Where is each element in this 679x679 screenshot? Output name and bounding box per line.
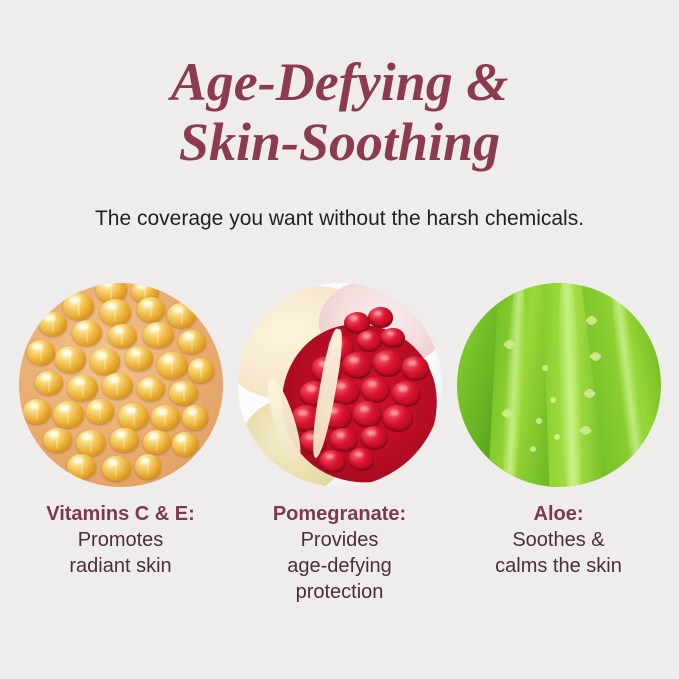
ingredient-body: Provides age-defying protection	[232, 527, 447, 605]
product-benefits-graphic: Age-Defying & Skin-Soothing The coverage…	[0, 0, 679, 679]
pomegranate-photo	[238, 283, 442, 487]
ingredient-title: Aloe:	[451, 501, 666, 527]
ingredient-title: Pomegranate:	[232, 501, 447, 527]
ingredient-caption-vitamins: Vitamins C & E: Promotes radiant skin	[13, 501, 228, 579]
ingredient-body-line-3: protection	[232, 579, 447, 605]
ingredient-body: Promotes radiant skin	[13, 527, 228, 579]
ingredient-body-line-2: calms the skin	[451, 553, 666, 579]
vitamin-capsules-photo	[19, 283, 223, 487]
ingredient-body-line-2: radiant skin	[13, 553, 228, 579]
page-title: Age-Defying & Skin-Soothing	[0, 52, 679, 172]
ingredient-body-line-1: Soothes &	[451, 527, 666, 553]
ingredient-title: Vitamins C & E:	[13, 501, 228, 527]
ingredient-card-aloe: Aloe: Soothes & calms the skin	[456, 283, 661, 623]
ingredient-row: Vitamins C & E: Promotes radiant skin	[0, 283, 679, 623]
ingredient-caption-aloe: Aloe: Soothes & calms the skin	[451, 501, 666, 579]
ingredient-body: Soothes & calms the skin	[451, 527, 666, 579]
headline-line-1: Age-Defying &	[0, 52, 679, 112]
ingredient-body-line-1: Provides	[232, 527, 447, 553]
ingredient-body-line-1: Promotes	[13, 527, 228, 553]
ingredient-card-pomegranate: Pomegranate: Provides age-defying protec…	[237, 283, 442, 623]
ingredient-caption-pomegranate: Pomegranate: Provides age-defying protec…	[232, 501, 447, 605]
aloe-leaves-photo	[457, 283, 661, 487]
headline-line-2: Skin-Soothing	[0, 112, 679, 172]
page-subtitle: The coverage you want without the harsh …	[0, 206, 679, 232]
ingredient-card-vitamins: Vitamins C & E: Promotes radiant skin	[18, 283, 223, 623]
ingredient-body-line-2: age-defying	[232, 553, 447, 579]
